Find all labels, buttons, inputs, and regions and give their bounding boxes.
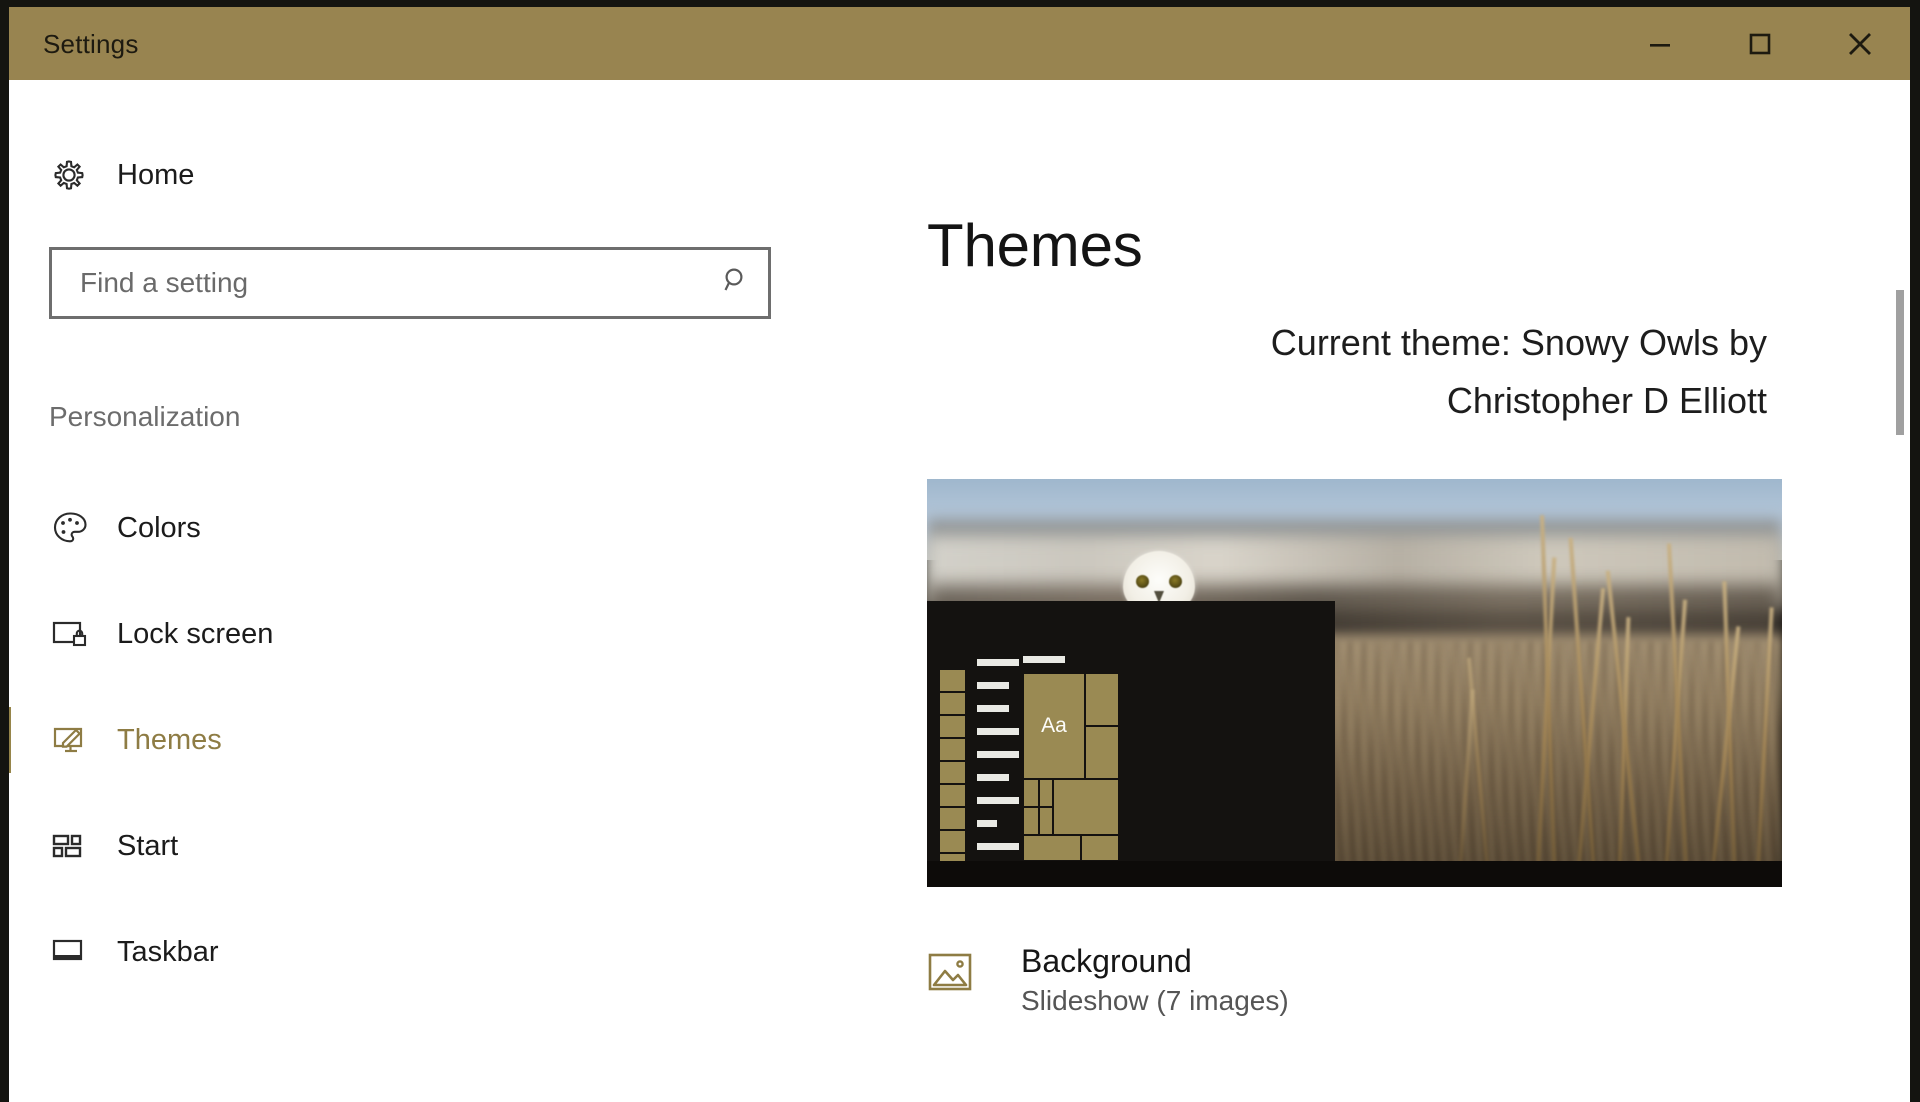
sidebar-item-label-colors: Colors xyxy=(117,514,201,543)
start-preview-tile xyxy=(1039,779,1053,807)
search-button[interactable] xyxy=(702,250,768,316)
current-theme-prefix: Current theme: xyxy=(1271,322,1511,363)
start-preview-tile xyxy=(1081,835,1119,861)
start-preview-app-list xyxy=(977,659,1019,866)
start-preview-app-line xyxy=(977,843,1019,850)
background-setting-row[interactable]: Background Slideshow (7 images) xyxy=(927,943,1910,1018)
background-setting-texts: Background Slideshow (7 images) xyxy=(1021,943,1289,1018)
start-preview-left-tile xyxy=(940,831,965,854)
background-setting-title: Background xyxy=(1021,943,1289,980)
sidebar-item-label-taskbar: Taskbar xyxy=(117,938,219,967)
start-preview-left-tile xyxy=(940,739,965,762)
owl-eye-right xyxy=(1169,575,1182,588)
selection-accent-bar xyxy=(9,707,11,773)
start-preview-app-line xyxy=(977,820,997,827)
sidebar-item-start[interactable]: Start xyxy=(9,793,909,899)
selection-accent-bar xyxy=(9,919,11,985)
start-preview-group-header xyxy=(1023,656,1065,663)
sidebar-item-colors[interactable]: Colors xyxy=(9,475,909,581)
search-icon xyxy=(718,264,752,303)
settings-window: Settings xyxy=(0,0,1920,1102)
sidebar-item-taskbar[interactable]: Taskbar xyxy=(9,899,909,1005)
start-preview-left-tile xyxy=(940,808,965,831)
start-preview-tile-aa-label: Aa xyxy=(1041,715,1067,736)
start-preview-left-column xyxy=(940,670,965,877)
current-theme-line-1: Current theme: Snowy Owls by xyxy=(1271,322,1767,363)
selection-accent-bar xyxy=(9,601,11,667)
title-bar[interactable]: Settings xyxy=(9,7,1910,80)
taskbar-icon xyxy=(49,931,95,973)
sidebar-section-heading: Personalization xyxy=(49,403,909,431)
search-input[interactable] xyxy=(52,250,702,316)
current-theme-author: Christopher D Elliott xyxy=(1447,380,1767,421)
start-preview-app-line xyxy=(977,797,1019,804)
start-tiles-icon xyxy=(49,825,95,867)
sidebar-nav-list: Colors Lock screen xyxy=(9,475,909,1005)
start-preview-app-line xyxy=(977,659,1019,666)
sidebar-item-label-home: Home xyxy=(117,161,194,190)
start-preview-tile xyxy=(1023,779,1039,807)
close-button[interactable] xyxy=(1810,7,1910,80)
sidebar-item-lock-screen[interactable]: Lock screen xyxy=(9,581,909,687)
lock-screen-icon xyxy=(49,613,95,655)
page-title: Themes xyxy=(927,216,1910,276)
sidebar-item-label-start: Start xyxy=(117,832,178,861)
start-menu-preview-panel: Aa xyxy=(927,601,1335,887)
themes-icon xyxy=(49,719,95,761)
main-content: Themes Current theme: Snowy Owls by Chri… xyxy=(909,80,1910,1102)
start-preview-left-tile xyxy=(940,670,965,693)
theme-preview-image[interactable]: Aa xyxy=(927,479,1782,887)
start-preview-left-tile xyxy=(940,785,965,808)
minimize-icon xyxy=(1645,29,1675,59)
picture-icon xyxy=(927,943,989,997)
start-preview-tile xyxy=(1039,807,1053,835)
selection-accent-bar xyxy=(9,813,11,879)
start-preview-left-tile xyxy=(940,693,965,716)
minimize-button[interactable] xyxy=(1610,7,1710,80)
window-controls xyxy=(1610,7,1910,80)
current-theme-name: Snowy Owls by xyxy=(1521,322,1767,363)
preview-taskbar-strip xyxy=(927,861,1782,887)
start-preview-app-line xyxy=(977,705,1009,712)
gear-icon xyxy=(49,155,95,195)
start-preview-left-tile xyxy=(940,762,965,785)
start-preview-app-line xyxy=(977,774,1009,781)
palette-icon xyxy=(49,507,95,549)
start-preview-app-line xyxy=(977,751,1019,758)
background-setting-subtitle: Slideshow (7 images) xyxy=(1021,985,1289,1017)
vertical-scrollbar-thumb[interactable] xyxy=(1896,290,1904,435)
close-icon xyxy=(1844,28,1876,60)
sidebar-item-themes[interactable]: Themes xyxy=(9,687,909,793)
owl-eye-left xyxy=(1136,575,1149,588)
start-preview-app-line xyxy=(977,682,1009,689)
window-body: Home Personalization xyxy=(9,80,1910,1102)
start-preview-tile xyxy=(1023,807,1039,835)
sidebar-item-home[interactable]: Home xyxy=(9,142,909,208)
start-preview-tile xyxy=(1023,835,1081,861)
sidebar: Home Personalization xyxy=(9,80,909,1102)
current-theme-text: Current theme: Snowy Owls by Christopher… xyxy=(927,314,1767,431)
sidebar-item-label-themes: Themes xyxy=(117,726,222,755)
start-preview-tile-grid: Aa xyxy=(1023,673,1119,869)
start-preview-tile xyxy=(1085,726,1119,779)
start-preview-tile xyxy=(1085,673,1119,726)
vertical-scrollbar-track[interactable] xyxy=(1888,80,1910,1102)
maximize-button[interactable] xyxy=(1710,7,1810,80)
sidebar-item-label-lock-screen: Lock screen xyxy=(117,620,273,649)
start-preview-tile xyxy=(1053,779,1119,835)
start-preview-tile-aa: Aa xyxy=(1023,673,1085,779)
search-box[interactable] xyxy=(49,247,771,319)
selection-accent-bar xyxy=(9,495,11,561)
window-title: Settings xyxy=(43,31,139,57)
start-preview-app-line xyxy=(977,728,1019,735)
start-preview-left-tile xyxy=(940,716,965,739)
maximize-icon xyxy=(1745,29,1775,59)
